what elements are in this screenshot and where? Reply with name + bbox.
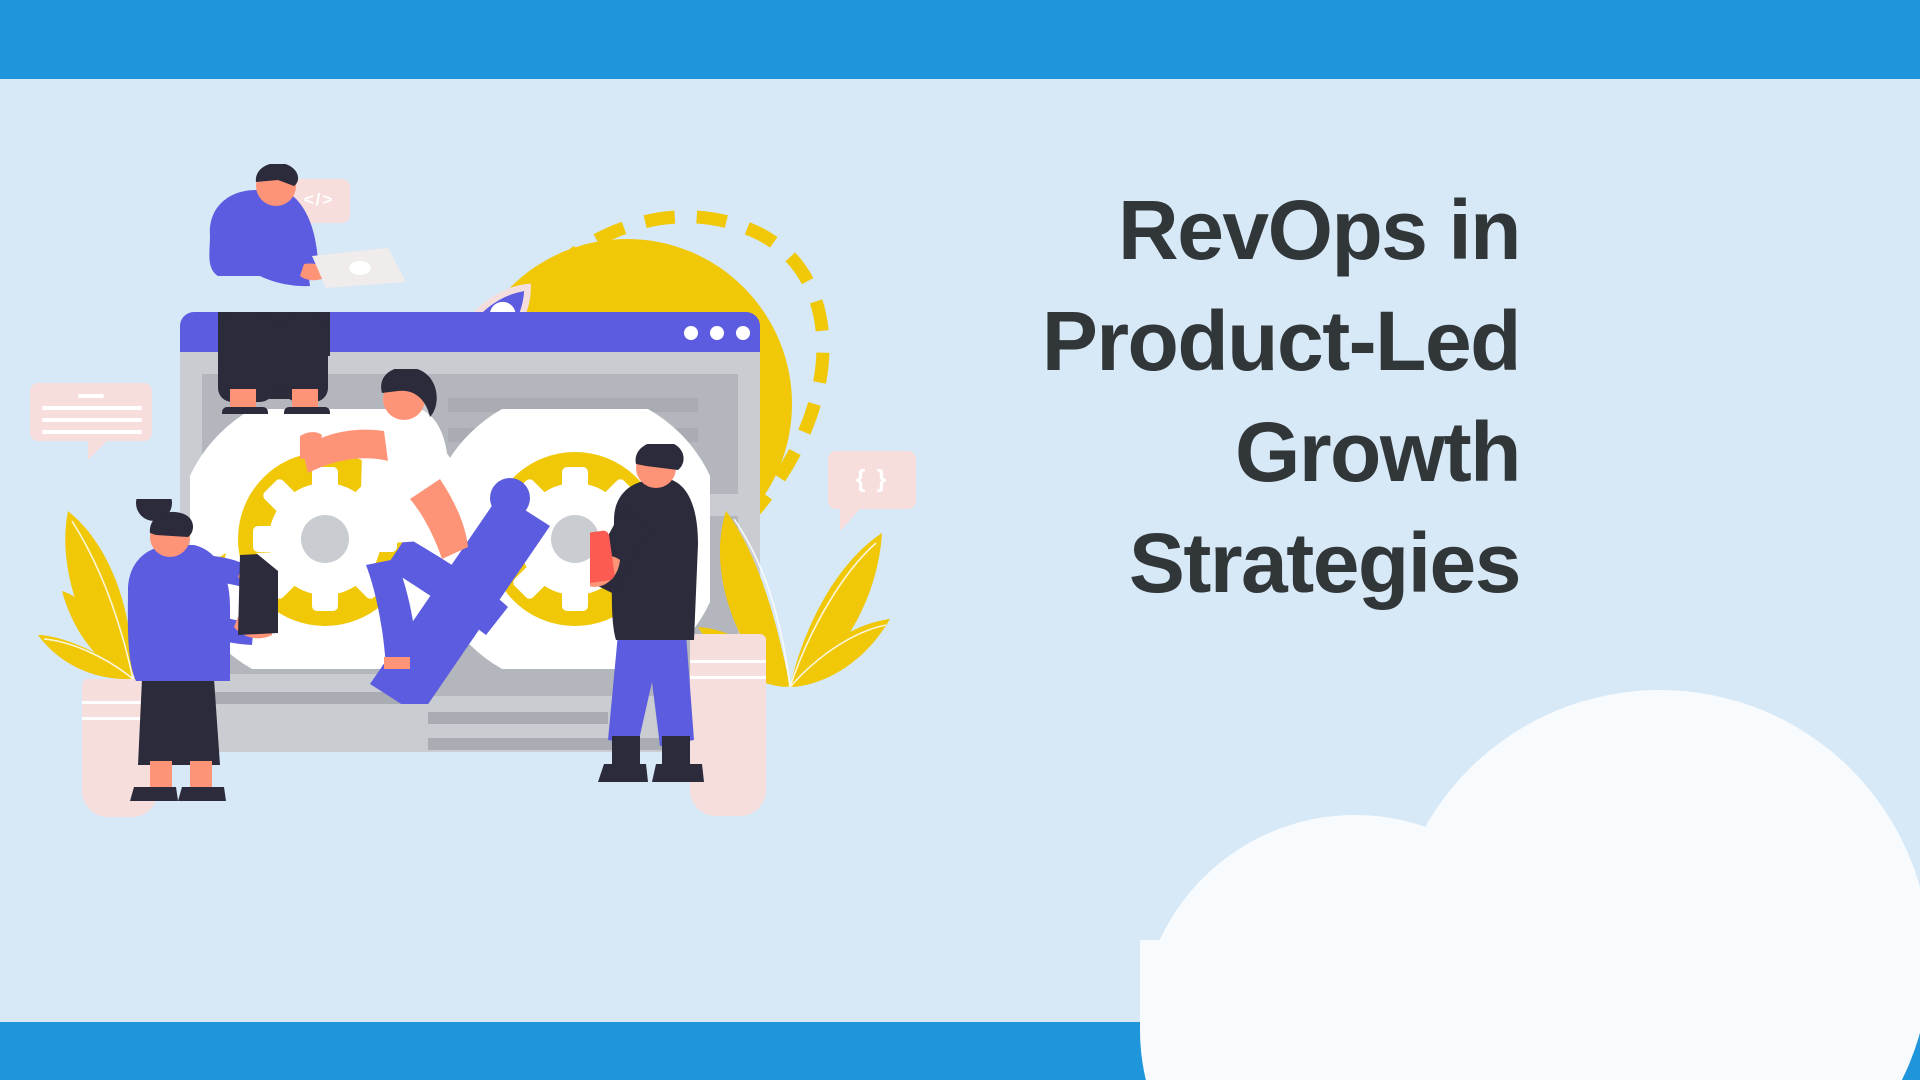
browser-dot-icon (684, 326, 698, 340)
top-brand-bar (0, 0, 1920, 79)
title-line-1: RevOps in (870, 175, 1520, 286)
woman-with-clipboard-character (98, 499, 278, 809)
title-line-4: Strategies (870, 508, 1520, 619)
title-line-3: Growth (870, 397, 1520, 508)
text-lines-bubble (30, 383, 152, 441)
woman-on-infinity-loop-character (300, 369, 560, 669)
browser-dot-icon (710, 326, 724, 340)
page-title: RevOps in Product-Led Growth Strategies (870, 175, 1520, 619)
man-with-phone-character (590, 444, 720, 814)
content-line (428, 712, 608, 724)
title-line-2: Product-Led (870, 286, 1520, 397)
cloud-puff-large (1390, 690, 1920, 1080)
browser-dot-icon (736, 326, 750, 340)
cloud-decoration (1140, 690, 1920, 1025)
blog-banner: </> { } (0, 0, 1920, 1080)
